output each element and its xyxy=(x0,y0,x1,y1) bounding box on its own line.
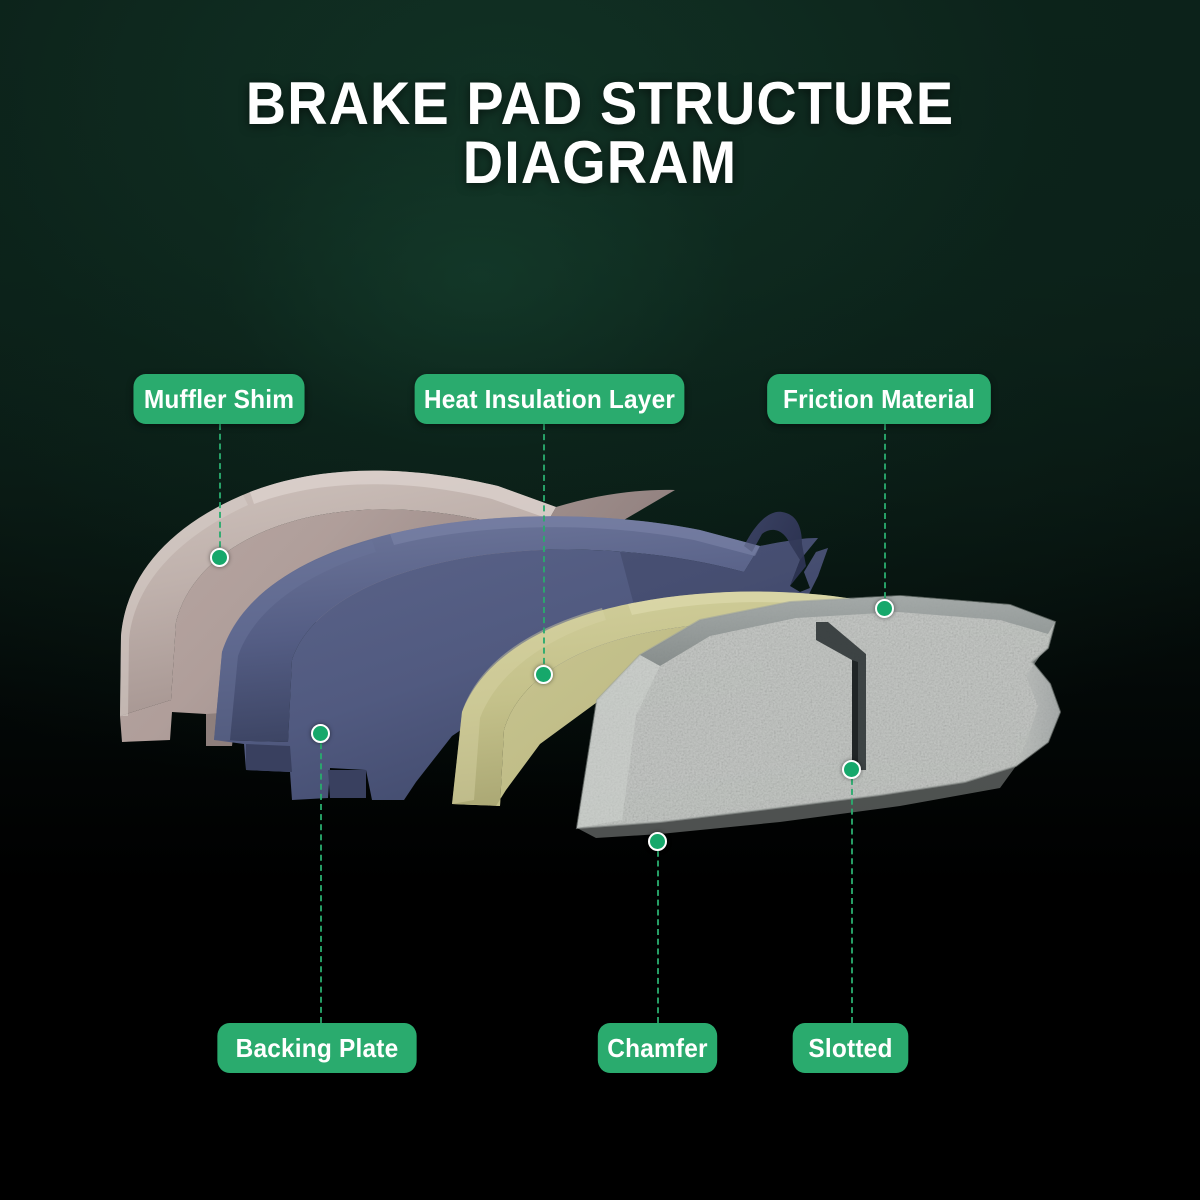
label-pill-muffler-shim[interactable]: Muffler Shim xyxy=(133,374,304,424)
label-text-slotted: Slotted xyxy=(808,1033,892,1064)
leader-line-slotted xyxy=(851,769,853,1023)
label-pill-friction-material[interactable]: Friction Material xyxy=(767,374,991,424)
callout-dot-chamfer[interactable] xyxy=(648,832,667,851)
label-pill-slotted[interactable]: Slotted xyxy=(793,1023,909,1073)
leader-line-muffler-shim xyxy=(219,424,221,557)
leader-line-backing-plate xyxy=(320,733,322,1023)
label-pill-heat-insulation-layer[interactable]: Heat Insulation Layer xyxy=(415,374,685,424)
label-text-backing-plate: Backing Plate xyxy=(236,1033,399,1064)
page-title: BRAKE PAD STRUCTURE DIAGRAM xyxy=(42,74,1158,193)
label-text-heat-insulation-layer: Heat Insulation Layer xyxy=(424,384,675,415)
leader-line-chamfer xyxy=(657,841,659,1023)
label-pill-backing-plate[interactable]: Backing Plate xyxy=(217,1023,416,1073)
label-pill-chamfer[interactable]: Chamfer xyxy=(598,1023,717,1073)
callout-dot-heat-insulation-layer[interactable] xyxy=(534,665,553,684)
callout-dot-friction-material[interactable] xyxy=(875,599,894,618)
leader-line-friction-material xyxy=(884,424,886,608)
diagram-canvas: BRAKE PAD STRUCTURE DIAGRAM xyxy=(0,0,1200,1200)
label-text-friction-material: Friction Material xyxy=(783,384,975,415)
callout-dot-slotted[interactable] xyxy=(842,760,861,779)
callout-dot-muffler-shim[interactable] xyxy=(210,548,229,567)
leader-line-heat-insulation-layer xyxy=(543,424,545,674)
label-text-muffler-shim: Muffler Shim xyxy=(144,384,294,415)
callout-dot-backing-plate[interactable] xyxy=(311,724,330,743)
label-text-chamfer: Chamfer xyxy=(607,1033,707,1064)
